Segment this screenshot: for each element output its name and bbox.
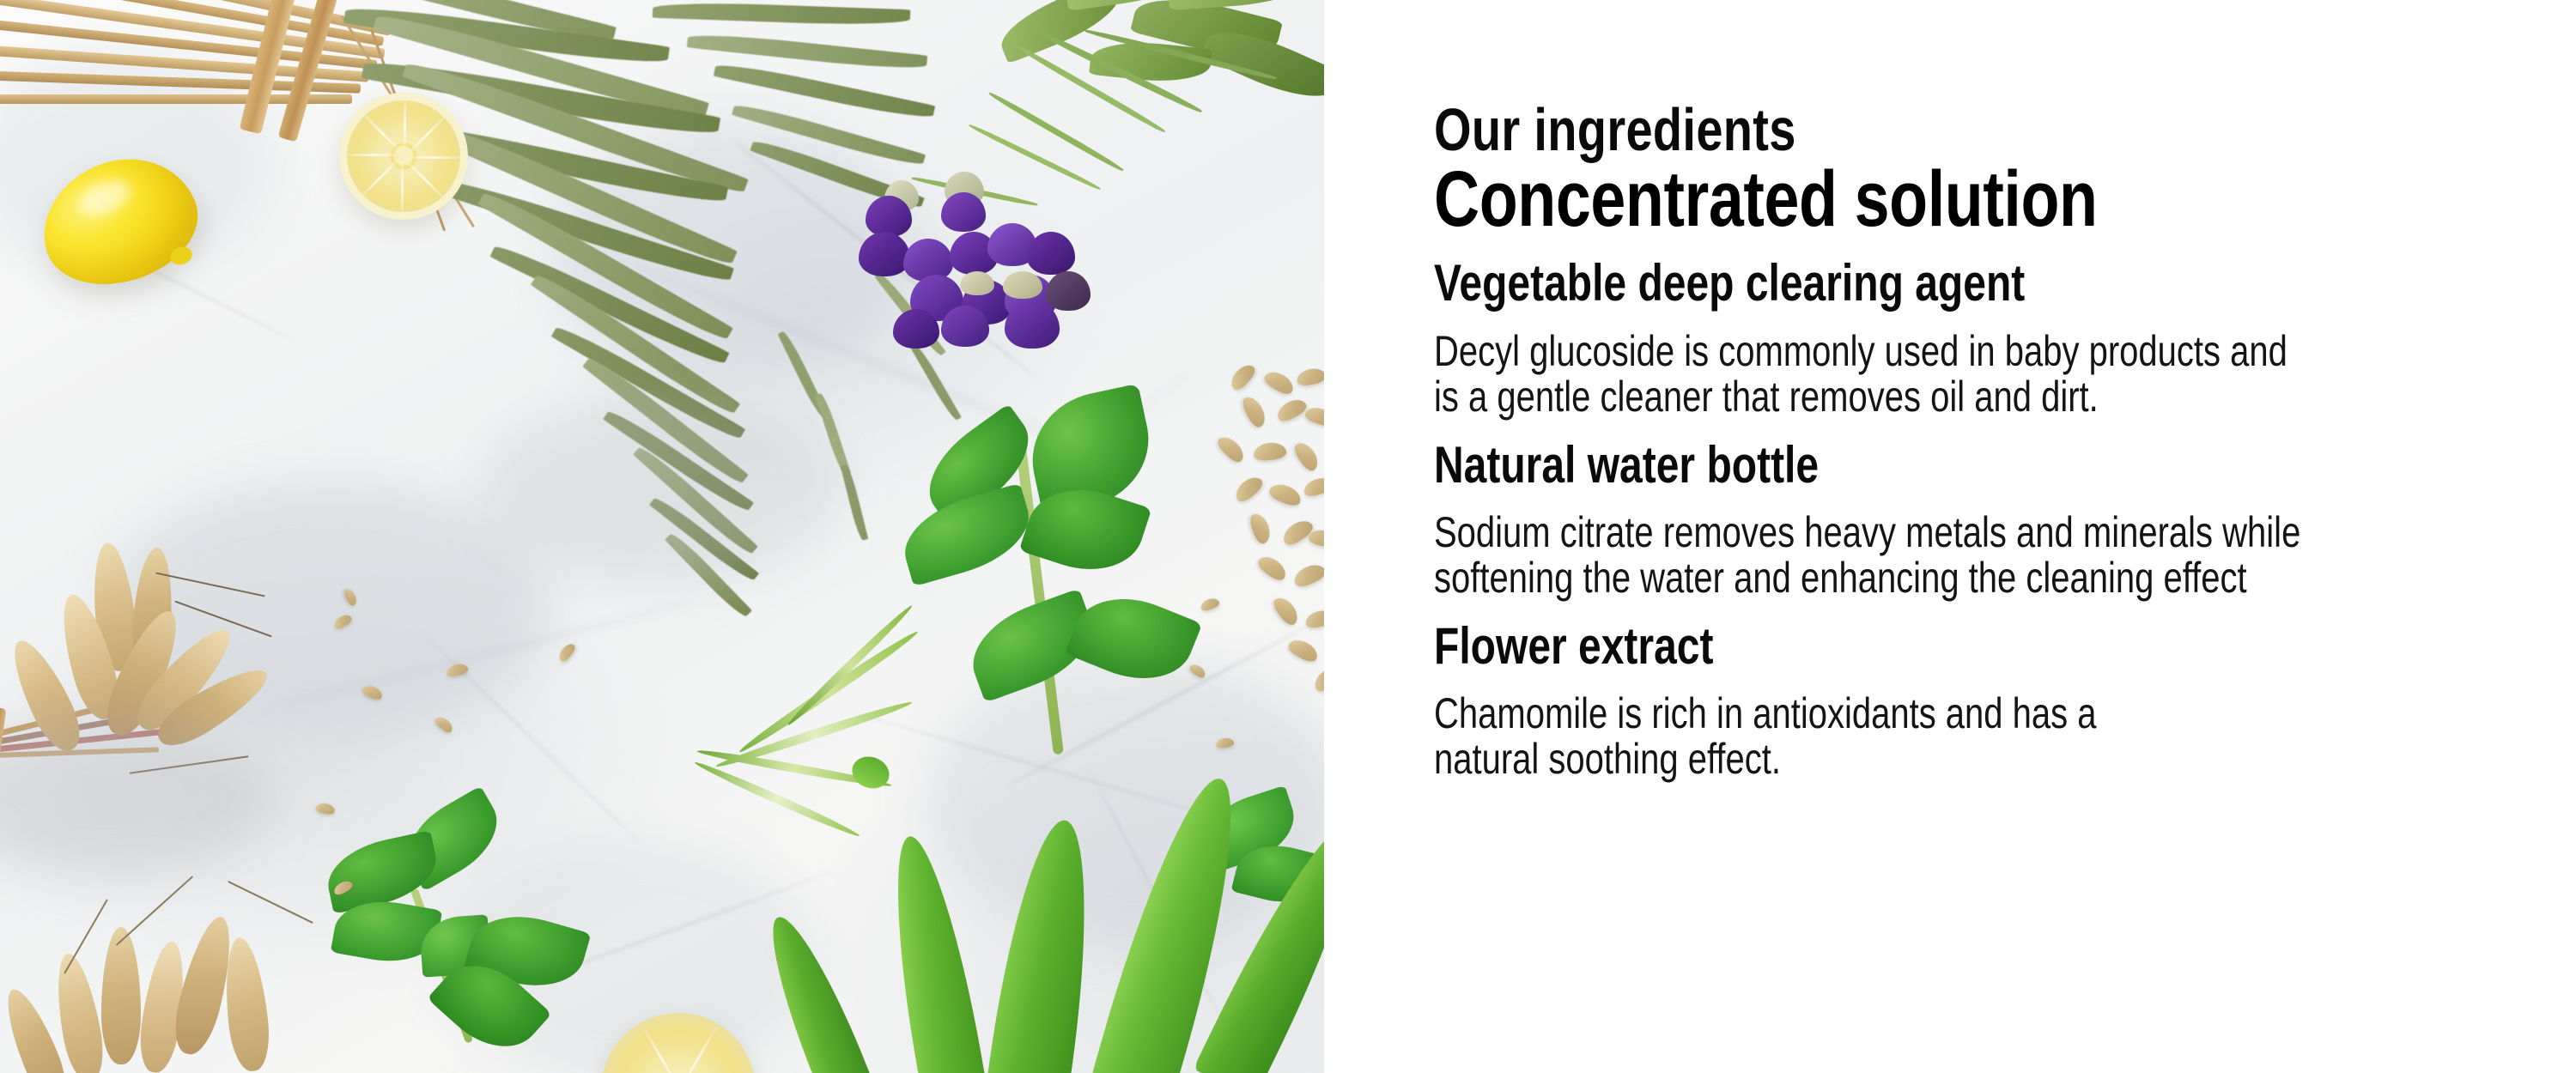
oat-grain bbox=[1255, 552, 1290, 584]
mint-leaf bbox=[895, 483, 1040, 587]
oat-grain bbox=[1248, 511, 1273, 545]
statice-flower bbox=[1027, 232, 1075, 275]
wheat-head bbox=[101, 927, 141, 1064]
section-heading-3: Flower extract bbox=[1434, 620, 2320, 672]
sage-leaf bbox=[1166, 0, 1323, 10]
oat-grain bbox=[1267, 481, 1304, 509]
lemon-core bbox=[394, 146, 413, 165]
wheat-awn bbox=[155, 573, 265, 597]
lemon-half bbox=[339, 93, 468, 220]
statice-bud bbox=[1003, 271, 1042, 299]
oat-grain bbox=[1291, 561, 1324, 590]
statice-flower bbox=[941, 192, 986, 232]
purple-statice-flowers bbox=[859, 103, 1142, 352]
oat-grain bbox=[1279, 516, 1316, 549]
wheat-bundle-lower bbox=[9, 893, 352, 1073]
aloe-leaf bbox=[753, 907, 879, 1073]
oat-grain bbox=[1253, 441, 1287, 462]
wheat-awn bbox=[64, 899, 108, 974]
mint-leaf bbox=[1065, 580, 1203, 697]
ingredients-photo bbox=[0, 0, 1324, 1073]
oat-grain bbox=[1274, 396, 1309, 425]
section-body-2: Sodium citrate removes heavy metals and … bbox=[1434, 510, 2320, 601]
oat-grain-pile bbox=[1219, 369, 1324, 755]
oat-grain bbox=[1296, 367, 1324, 388]
thyme-tip bbox=[841, 464, 868, 542]
wheat-awn bbox=[228, 881, 313, 924]
statice-flower bbox=[1046, 271, 1091, 311]
oat-grain bbox=[1302, 475, 1324, 499]
kicker-heading: Our ingredients bbox=[1434, 101, 2320, 159]
flower-stem bbox=[968, 123, 1101, 191]
statice-flower bbox=[893, 309, 939, 349]
oat-grain bbox=[1303, 608, 1324, 630]
aloe-vera-leaves bbox=[773, 764, 1324, 1073]
grain-seed bbox=[556, 641, 577, 664]
text-panel: Our ingredients Concentrated solution Ve… bbox=[1324, 0, 2576, 1073]
statice-bud bbox=[960, 271, 994, 295]
ingredients-banner: Our ingredients Concentrated solution Ve… bbox=[0, 0, 2576, 1073]
oat-grain bbox=[1310, 664, 1324, 694]
oat-grain bbox=[1303, 404, 1324, 428]
mint-sprig-small bbox=[326, 807, 601, 1047]
aloe-leaf bbox=[878, 831, 991, 1073]
oat-grain bbox=[1215, 433, 1248, 465]
section-body-3: Chamomile is rich in antioxidants and ha… bbox=[1434, 691, 2320, 782]
section-heading-2: Natural water bottle bbox=[1434, 439, 2320, 491]
chive-blade bbox=[737, 627, 920, 756]
oat-grain bbox=[1262, 367, 1297, 397]
soft-shadow bbox=[481, 395, 841, 584]
oat-grain bbox=[1240, 393, 1270, 429]
section-heading-1: Vegetable deep clearing agent bbox=[1434, 257, 2320, 309]
text-block: Our ingredients Concentrated solution Ve… bbox=[1434, 101, 2542, 782]
oat-grain bbox=[1231, 473, 1266, 506]
thyme-sprig bbox=[653, 1, 911, 27]
oat-grain bbox=[1227, 361, 1258, 392]
wheat-awn bbox=[116, 876, 194, 946]
oat-grain bbox=[1286, 636, 1321, 665]
page-title: Concentrated solution bbox=[1434, 161, 2320, 238]
oat-grain bbox=[1270, 593, 1302, 627]
statice-flower bbox=[859, 232, 910, 276]
oat-grain bbox=[1291, 439, 1322, 473]
aloe-leaf bbox=[982, 815, 1106, 1073]
flower-stem bbox=[987, 90, 1124, 173]
section-body-1: Decyl glucoside is commonly used in baby… bbox=[1434, 329, 2320, 420]
